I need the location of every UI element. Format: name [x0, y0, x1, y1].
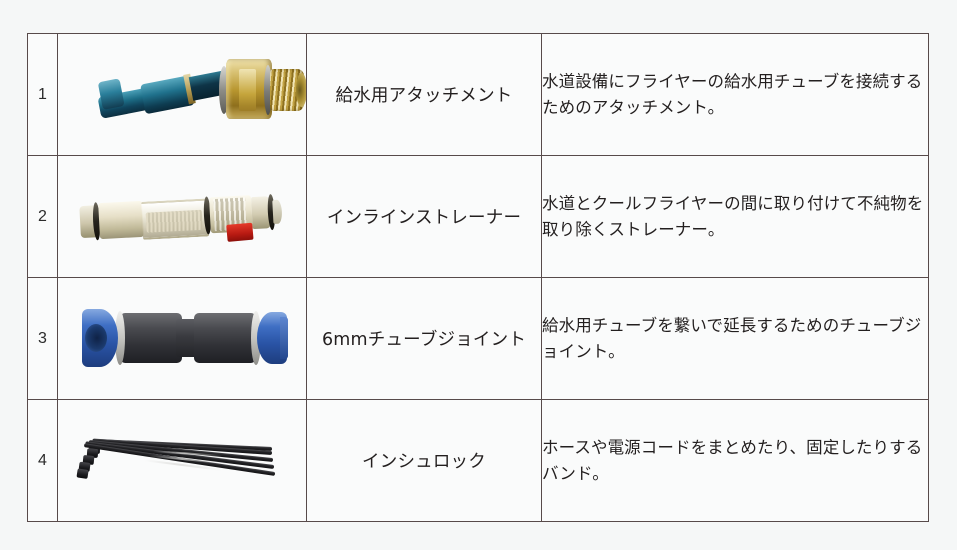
joint-illustration — [58, 279, 307, 398]
cable-tie-photo — [58, 401, 307, 520]
water-supply-attachment-photo — [58, 35, 307, 154]
table-row: 1 — [28, 34, 929, 156]
left-body — [120, 313, 182, 363]
right-body — [194, 313, 256, 363]
inline-strainer-photo — [58, 157, 307, 276]
right-collet-edge — [280, 317, 288, 359]
cable-ties-illustration — [58, 401, 307, 520]
part-image-cell — [58, 400, 307, 522]
part-name: インシュロック — [307, 400, 542, 522]
hex-flat-face — [239, 69, 256, 111]
left-port-opening — [85, 324, 107, 352]
attachment-illustration — [58, 35, 307, 154]
filter-mesh — [146, 210, 203, 233]
collet-end — [98, 78, 125, 110]
red-release-clip — [226, 223, 253, 242]
part-image-cell — [58, 156, 307, 278]
table-row: 3 — [28, 278, 929, 400]
part-description: ホースや電源コードをまとめたり、固定したりするバンド。 — [542, 400, 929, 522]
table-row: 2 — [28, 156, 929, 278]
thread-opening — [296, 73, 307, 107]
part-image-cell — [58, 34, 307, 156]
cable-tie-head — [76, 468, 88, 479]
parts-table: 1 — [27, 33, 929, 522]
left-housing — [98, 201, 144, 239]
part-description: 水道設備にフライヤーの給水用チューブを接続するためのアタッチメント。 — [542, 34, 929, 156]
strainer-body — [79, 192, 277, 242]
strainer-illustration — [58, 157, 307, 276]
part-image-cell — [58, 278, 307, 400]
row-number: 4 — [28, 400, 58, 522]
tube-joint-photo — [58, 279, 307, 398]
right-tip — [272, 200, 282, 224]
part-description: 給水用チューブを繋いで延長するためのチューブジョイント。 — [542, 278, 929, 400]
row-number: 2 — [28, 156, 58, 278]
part-name: インラインストレーナー — [307, 156, 542, 278]
part-name: 6mmチューブジョイント — [307, 278, 542, 400]
table-row: 4 — [28, 400, 929, 522]
parts-table-container: 1 — [27, 33, 928, 517]
row-number: 3 — [28, 278, 58, 400]
row-number: 1 — [28, 34, 58, 156]
part-description: 水道とクールフライヤーの間に取り付けて不純物を取り除くストレーナー。 — [542, 156, 929, 278]
part-name: 給水用アタッチメント — [307, 34, 542, 156]
